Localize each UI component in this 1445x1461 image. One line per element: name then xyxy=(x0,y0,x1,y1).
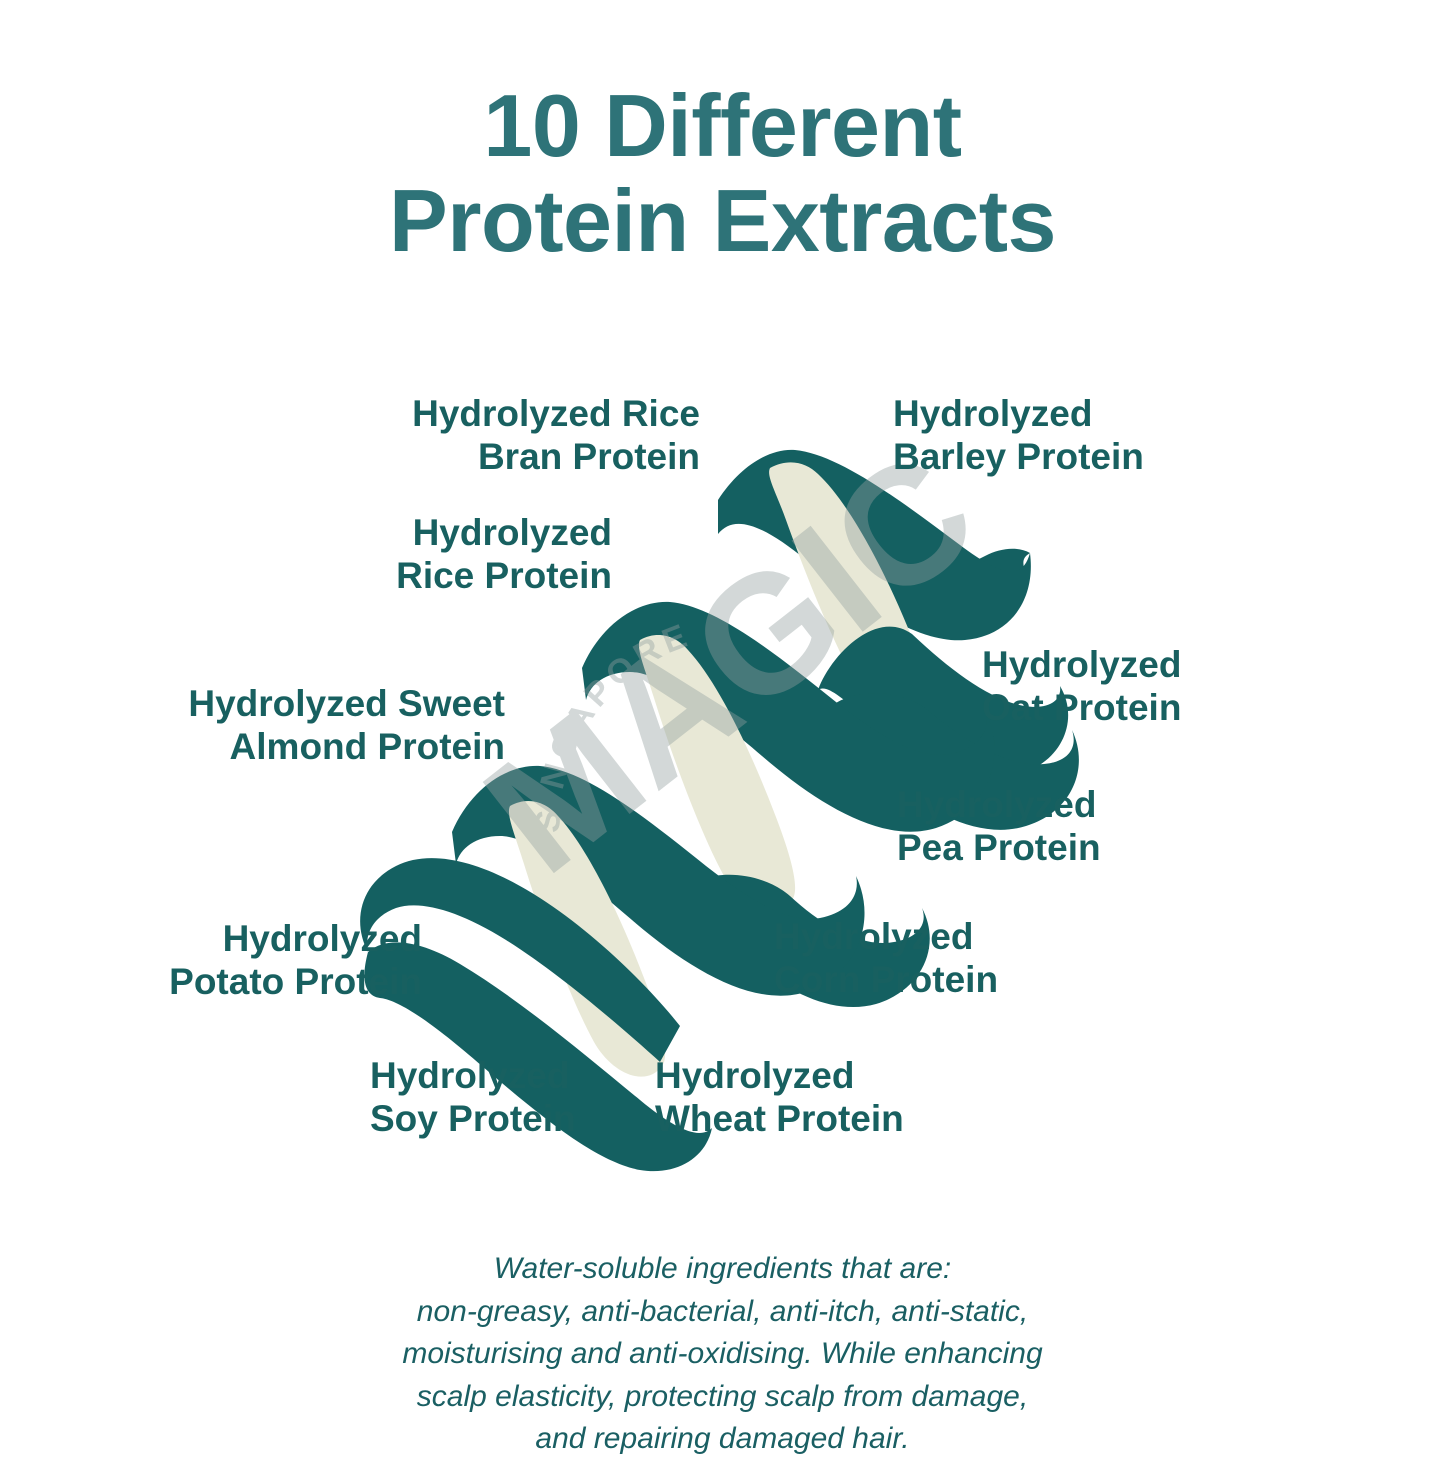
label-hydrolyzed-rice-bran-protein: Hydrolyzed Rice Bran Protein xyxy=(412,392,700,479)
ribbon-segment-top-tail xyxy=(845,536,1030,613)
footer-line-1: Water-soluble ingredients that are: xyxy=(0,1248,1445,1291)
label-hydrolyzed-wheat-protein: Hydrolyzed Wheat Protein xyxy=(655,1054,904,1141)
label-hydrolyzed-pea-protein: Hydrolyzed Pea Protein xyxy=(897,783,1101,870)
label-line-2: Rice Protein xyxy=(396,554,612,597)
label-line-1: Hydrolyzed xyxy=(169,917,422,960)
label-line-2: Bran Protein xyxy=(412,435,700,478)
label-hydrolyzed-sweet-almond-protein: Hydrolyzed Sweet Almond Protein xyxy=(188,682,505,769)
title-line-1: 10 Different xyxy=(0,78,1445,173)
label-line-1: Hydrolyzed xyxy=(982,643,1181,686)
label-hydrolyzed-rice-protein: Hydrolyzed Rice Protein xyxy=(396,511,612,598)
label-line-2: Almond Protein xyxy=(188,725,505,768)
label-line-2: Potato Protein xyxy=(169,960,422,1003)
label-line-1: Hydrolyzed xyxy=(370,1054,576,1097)
footer-description: Water-soluble ingredients that are: non-… xyxy=(0,1248,1445,1461)
label-line-2: Wheat Protein xyxy=(655,1097,904,1140)
label-line-2: Corn Protein xyxy=(774,958,998,1001)
svg-text:SINGAPORE: SINGAPORE xyxy=(529,616,696,834)
label-line-1: Hydrolyzed Sweet xyxy=(188,682,505,725)
footer-line-4: scalp elasticity, protecting scalp from … xyxy=(0,1376,1445,1419)
label-line-1: Hydrolyzed xyxy=(655,1054,904,1097)
label-line-2: Pea Protein xyxy=(897,826,1101,869)
label-line-1: Hydrolyzed xyxy=(897,783,1101,826)
ribbon-segment-top-inner xyxy=(769,462,932,724)
label-line-2: Oat Protein xyxy=(982,686,1181,729)
label-line-2: Barley Protein xyxy=(893,435,1144,478)
label-line-1: Hydrolyzed xyxy=(893,392,1144,435)
ribbon-segment-mid-inner xyxy=(639,635,795,911)
footer-line-5: and repairing damaged hair. xyxy=(0,1418,1445,1461)
label-line-1: Hydrolyzed xyxy=(774,915,998,958)
label-hydrolyzed-potato-protein: Hydrolyzed Potato Protein xyxy=(169,917,422,1004)
footer-line-3: moisturising and anti-oxidising. While e… xyxy=(0,1333,1445,1376)
label-hydrolyzed-corn-protein: Hydrolyzed Corn Protein xyxy=(774,915,998,1002)
ribbon-segment-bottom-inner xyxy=(509,801,665,1077)
label-hydrolyzed-soy-protein: Hydrolyzed Soy Protein xyxy=(370,1054,576,1141)
label-line-2: Soy Protein xyxy=(370,1097,576,1140)
protein-extracts-infographic: 10 Different Protein Extracts xyxy=(0,0,1445,1445)
footer-line-2: non-greasy, anti-bacterial, anti-itch, a… xyxy=(0,1291,1445,1334)
label-hydrolyzed-barley-protein: Hydrolyzed Barley Protein xyxy=(893,392,1144,479)
label-hydrolyzed-oat-protein: Hydrolyzed Oat Protein xyxy=(982,643,1181,730)
page-title: 10 Different Protein Extracts xyxy=(0,78,1445,268)
title-line-2: Protein Extracts xyxy=(0,173,1445,268)
label-line-1: Hydrolyzed xyxy=(396,511,612,554)
label-line-1: Hydrolyzed Rice xyxy=(412,392,700,435)
